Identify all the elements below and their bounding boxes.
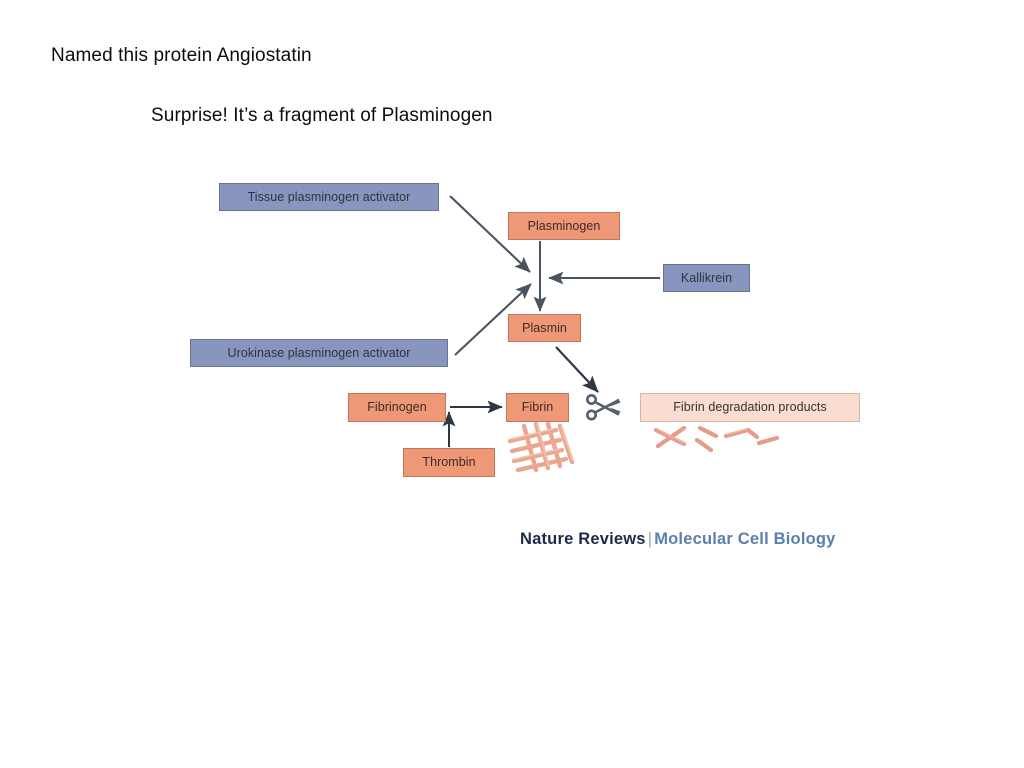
journal-credit: Nature Reviews|Molecular Cell Biology: [520, 530, 836, 549]
scissors-icon: [584, 387, 624, 427]
plasminogen-pathway-figure: Tissue plasminogen activator Urokinase p…: [0, 0, 1024, 768]
node-fibrin[interactable]: Fibrin: [506, 393, 569, 422]
node-fibrinogen[interactable]: Fibrinogen: [348, 393, 446, 422]
node-label: Kallikrein: [681, 272, 732, 285]
credit-separator: |: [648, 530, 653, 548]
node-fibrin-degradation-products[interactable]: Fibrin degradation products: [640, 393, 860, 422]
node-plasmin[interactable]: Plasmin: [508, 314, 581, 342]
figure-arrows-layer: [0, 0, 1024, 768]
arrow-plasmin-to-cleavage: [556, 347, 598, 392]
node-label: Fibrinogen: [367, 401, 427, 414]
node-label: Thrombin: [422, 456, 475, 469]
node-label: Plasmin: [522, 322, 567, 335]
node-plasminogen[interactable]: Plasminogen: [508, 212, 620, 240]
node-urokinase-plasminogen-activator[interactable]: Urokinase plasminogen activator: [190, 339, 448, 367]
node-label: Plasminogen: [528, 220, 601, 233]
fibrin-fragments-icon: [656, 428, 777, 450]
node-kallikrein[interactable]: Kallikrein: [663, 264, 750, 292]
node-label: Urokinase plasminogen activator: [228, 347, 411, 360]
node-label: Fibrin degradation products: [673, 401, 827, 414]
credit-title: Molecular Cell Biology: [654, 530, 835, 548]
node-label: Tissue plasminogen activator: [248, 191, 411, 204]
node-thrombin[interactable]: Thrombin: [403, 448, 495, 477]
node-tissue-plasminogen-activator[interactable]: Tissue plasminogen activator: [219, 183, 439, 211]
node-label: Fibrin: [522, 401, 554, 414]
credit-journal: Nature Reviews: [520, 530, 646, 548]
